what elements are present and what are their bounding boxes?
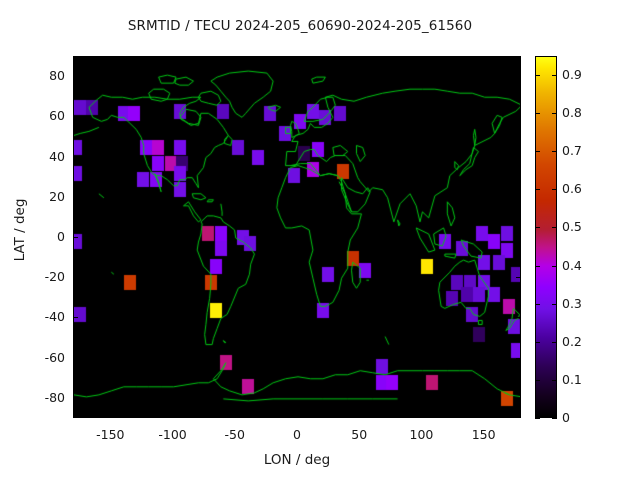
x-tick-label: 50 <box>329 427 389 442</box>
y-tick-label: -20 <box>17 269 65 284</box>
y-tick-mark <box>516 358 521 359</box>
colorbar-tick-mark <box>535 227 540 228</box>
y-tick-mark <box>516 197 521 198</box>
colorbar-tick-mark <box>552 380 557 381</box>
coastline-map-canvas <box>74 57 521 418</box>
x-tick-mark <box>110 413 111 418</box>
colorbar-tick-mark <box>552 113 557 114</box>
plot-area[interactable] <box>73 56 521 418</box>
colorbar-tick-mark <box>535 151 540 152</box>
colorbar-tick-label: 0.4 <box>562 258 610 273</box>
colorbar-tick-mark <box>552 189 557 190</box>
x-axis-label: LON / deg <box>73 452 521 468</box>
colorbar-tick-label: 0.9 <box>562 67 610 82</box>
colorbar[interactable] <box>535 56 557 418</box>
y-tick-label: 60 <box>17 108 65 123</box>
x-tick-mark <box>173 56 174 61</box>
y-tick-mark <box>73 277 78 278</box>
colorbar-tick-mark <box>552 418 557 419</box>
x-tick-mark <box>359 413 360 418</box>
x-tick-mark <box>421 413 422 418</box>
y-tick-mark <box>516 277 521 278</box>
y-tick-mark <box>73 197 78 198</box>
x-tick-label: 100 <box>391 427 451 442</box>
y-tick-label: 80 <box>17 68 65 83</box>
y-tick-label: 0 <box>17 229 65 244</box>
colorbar-tick-mark <box>552 75 557 76</box>
colorbar-tick-mark <box>535 304 540 305</box>
colorbar-tick-label: 0.2 <box>562 334 610 349</box>
x-tick-label: 0 <box>267 427 327 442</box>
y-tick-mark <box>73 76 78 77</box>
colorbar-tick-mark <box>552 266 557 267</box>
colorbar-tick-mark <box>552 151 557 152</box>
x-tick-label: -150 <box>80 427 140 442</box>
y-tick-mark <box>73 398 78 399</box>
x-tick-mark <box>297 56 298 61</box>
x-tick-mark <box>110 56 111 61</box>
y-tick-mark <box>516 398 521 399</box>
y-tick-mark <box>516 237 521 238</box>
y-tick-mark <box>516 317 521 318</box>
colorbar-tick-label: 0.6 <box>562 181 610 196</box>
colorbar-tick-mark <box>552 342 557 343</box>
figure-root: SRMTID / TECU 2024-205_60690-2024-205_61… <box>0 0 640 480</box>
colorbar-gradient <box>535 56 557 418</box>
page-title: SRMTID / TECU 2024-205_60690-2024-205_61… <box>0 18 600 34</box>
x-tick-mark <box>297 413 298 418</box>
colorbar-tick-label: 0.7 <box>562 143 610 158</box>
colorbar-tick-mark <box>535 75 540 76</box>
y-tick-mark <box>516 76 521 77</box>
y-tick-mark <box>73 317 78 318</box>
y-tick-label: 40 <box>17 149 65 164</box>
colorbar-tick-mark <box>535 418 540 419</box>
colorbar-tick-label: 0.3 <box>562 296 610 311</box>
colorbar-tick-mark <box>535 266 540 267</box>
x-tick-mark <box>173 413 174 418</box>
colorbar-tick-mark <box>552 304 557 305</box>
colorbar-tick-mark <box>535 189 540 190</box>
colorbar-tick-mark <box>535 342 540 343</box>
y-tick-mark <box>73 157 78 158</box>
x-tick-mark <box>484 56 485 61</box>
x-tick-label: -100 <box>143 427 203 442</box>
x-tick-mark <box>359 56 360 61</box>
colorbar-tick-mark <box>552 227 557 228</box>
y-tick-label: -40 <box>17 309 65 324</box>
y-tick-label: 20 <box>17 189 65 204</box>
x-tick-mark <box>421 56 422 61</box>
colorbar-tick-label: 0.8 <box>562 105 610 120</box>
x-tick-label: -50 <box>205 427 265 442</box>
x-tick-mark <box>235 56 236 61</box>
colorbar-tick-label: 0 <box>562 410 610 425</box>
x-tick-mark <box>484 413 485 418</box>
y-tick-mark <box>73 358 78 359</box>
y-tick-mark <box>73 116 78 117</box>
y-tick-label: -60 <box>17 350 65 365</box>
colorbar-tick-label: 0.5 <box>562 219 610 234</box>
colorbar-tick-label: 0.1 <box>562 372 610 387</box>
colorbar-tick-mark <box>535 380 540 381</box>
colorbar-tick-mark <box>535 113 540 114</box>
x-tick-label: 150 <box>454 427 514 442</box>
y-tick-label: -80 <box>17 390 65 405</box>
y-tick-mark <box>516 116 521 117</box>
x-tick-mark <box>235 413 236 418</box>
y-tick-mark <box>73 237 78 238</box>
y-tick-mark <box>516 157 521 158</box>
